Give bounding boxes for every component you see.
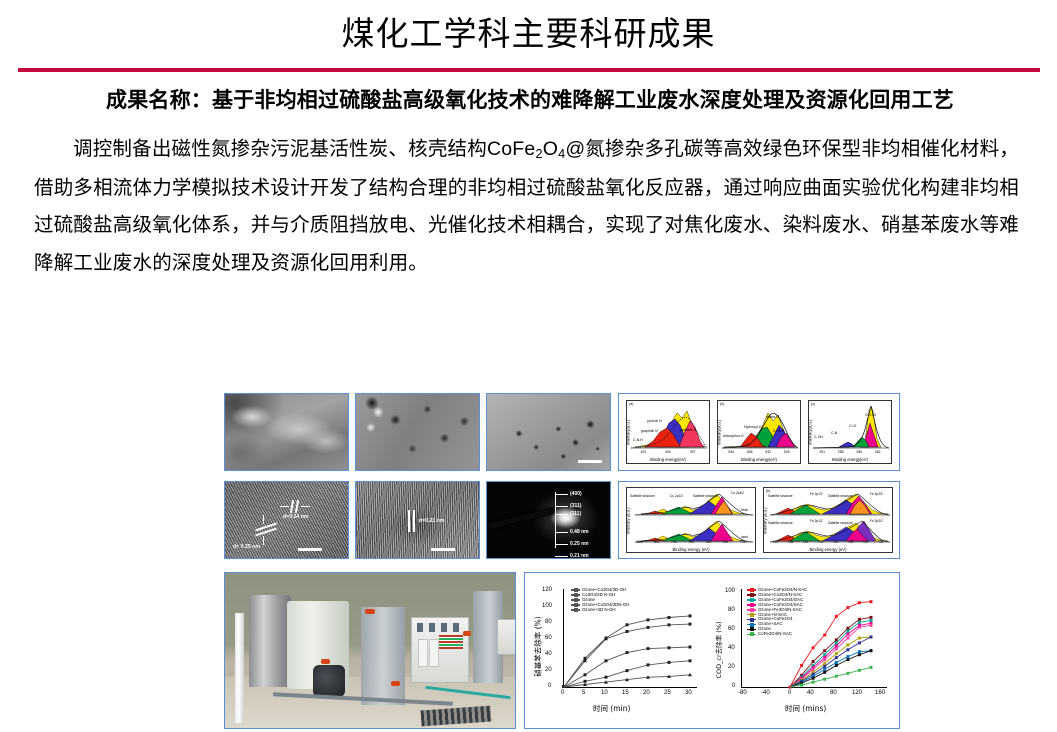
photo-dosing-column-b bbox=[429, 639, 439, 667]
saed-annotation-group: (400) (311) (111) 0.48 nm 0.25 nm 0.21 n… bbox=[555, 488, 607, 552]
formula-sub-2: 2 bbox=[535, 147, 542, 161]
figure-board: d=0.24 nm d= 0.25 nm d=0.21 nm (400) (31… bbox=[224, 393, 900, 731]
xps-xtick-b-3: 528 bbox=[784, 450, 790, 454]
photo-valve-red-a bbox=[365, 609, 375, 614]
xps-chart-co2p: Intensity (a.u.) bbox=[626, 487, 756, 553]
micrograph-label-d024: d=0.24 nm bbox=[283, 514, 309, 520]
micrograph-hrtem-lattice-1: d=0.24 nm d= 0.25 nm bbox=[224, 481, 349, 559]
formula-cofe: CoFe bbox=[487, 138, 535, 160]
photo-pipe-vertical bbox=[235, 613, 244, 723]
xps-xtick-fe-2: 730 bbox=[803, 540, 809, 544]
scale-bar bbox=[298, 548, 322, 551]
micrograph-saed-pattern: (400) (311) (111) 0.48 nm 0.25 nm 0.21 n… bbox=[486, 481, 611, 559]
xps-peak-label-hydroxyl-o: Hydroxyl-O bbox=[744, 425, 762, 429]
xps-peak-label-fe2p12: Fe 2p1/2 bbox=[810, 492, 823, 496]
xps-chart-fe2p: (b) Intensity (a.u.) bbox=[763, 487, 893, 553]
xps-xticks-c: 291 288 285 282 bbox=[813, 450, 887, 455]
xps-xtick-co-3: 790 bbox=[688, 540, 694, 544]
photo-valve-red-d bbox=[463, 631, 471, 636]
saed-tick-5 bbox=[555, 556, 568, 557]
xps-peak-label-fe2p12-b: Fe 2p1/2 bbox=[810, 519, 823, 523]
xps-xtick-c-2: 285 bbox=[856, 450, 862, 454]
arrow-line-d bbox=[263, 536, 264, 545]
xps-xtick-fe-4: 720 bbox=[833, 540, 839, 544]
xps-peak-label-c-dblo: C=O bbox=[849, 424, 856, 428]
arrow-line-c bbox=[263, 515, 264, 524]
xps-xtick-co-2: 795 bbox=[671, 540, 677, 544]
photo-dosing-column-a bbox=[418, 639, 428, 667]
abstract-part-1: 调控制备出磁性氮掺杂污泥基活性炭、核壳结构 bbox=[73, 137, 487, 160]
legend-swatch bbox=[747, 594, 756, 596]
legend-swatch bbox=[747, 609, 756, 611]
xps-xtick-fe-6: 710 bbox=[863, 540, 869, 544]
saed-label-111: (111) bbox=[570, 511, 581, 517]
micrograph-label-d025: d= 0.25 nm bbox=[233, 544, 260, 550]
xps-xtick-co-1: 800 bbox=[654, 540, 660, 544]
xps-peak-label-pyrrolic-n: pyrrolic N bbox=[647, 419, 662, 423]
chart-nitrobenzene-removal: 硝基苯去除率 (%) 时间 (min) 0 20 40 60 80 100 12… bbox=[531, 579, 707, 719]
xps-xtick-fe-3: 725 bbox=[818, 540, 824, 544]
lattice-fringe-mark-a bbox=[290, 500, 294, 513]
photo-valve-red-c bbox=[391, 681, 400, 686]
xps-xtick-c-3: 282 bbox=[875, 450, 881, 454]
saed-label-400: (400) bbox=[570, 491, 582, 497]
saed-label-048nm: 0.48 nm bbox=[570, 529, 589, 535]
legend-swatch bbox=[747, 619, 756, 621]
xps-peak-label-pyridinic-n: pyridinic N bbox=[680, 428, 696, 432]
pilot-plant-photo bbox=[224, 572, 516, 729]
saed-label-025nm: 0.25 nm bbox=[570, 541, 589, 547]
title-divider-rule bbox=[18, 68, 1040, 72]
xps-peak-label-fe-satellite-2: Satellite structure bbox=[828, 494, 853, 498]
xps-peak-label-c-o-m: C=O-M bbox=[773, 429, 784, 433]
photo-right-cabinet bbox=[497, 619, 516, 655]
micrograph-sem-particles bbox=[355, 393, 480, 471]
xps-peak-label-co2p32: Co 2p3/2 bbox=[731, 491, 744, 495]
photo-control-panel-text bbox=[439, 635, 463, 649]
formula-at: @ bbox=[565, 138, 585, 160]
saed-tick-3 bbox=[555, 532, 568, 533]
xps-peak-label-fe2p32: Fe 2p3/2 bbox=[870, 492, 883, 496]
legend-swatch bbox=[571, 589, 580, 591]
micrograph-hrtem-lattice-2: d=0.21 nm bbox=[355, 481, 480, 559]
xps-series-label-used: used bbox=[741, 535, 748, 539]
xps-board-bottom: Intensity (a.u.) bbox=[618, 481, 900, 559]
legend-swatch bbox=[747, 614, 756, 616]
chart-cod-legend: Ozone+CoFe2O4/N-SAC Ozone+Co3O4/N-SAC Oz… bbox=[747, 588, 807, 637]
xps-peak-label-fe-satellite-4: Satellite structure bbox=[828, 521, 853, 525]
xps-xtick-a-1: 400 bbox=[665, 450, 671, 454]
xps-xlabel-c: Binding energy(eV) bbox=[809, 457, 891, 462]
xps-xtick-b-1: 536 bbox=[747, 450, 753, 454]
legend-label-9: CoFe2O4/N-SAC bbox=[758, 632, 792, 636]
saed-tick-2 bbox=[555, 514, 568, 515]
xps-xticks-a: 403 400 397 bbox=[631, 450, 705, 455]
legend-swatch bbox=[571, 609, 580, 611]
saed-tick-4 bbox=[555, 544, 568, 545]
xps-peak-label-satellite-2: Satellite structure bbox=[693, 494, 718, 498]
slide-title: 煤化工学科主要科研成果 bbox=[0, 0, 1057, 54]
xps-peak-label-c-oh: C-OH bbox=[814, 435, 823, 439]
photo-tank-metal bbox=[249, 595, 291, 687]
xps-xticks-co2p: 805 800 795 790 785 780 775 bbox=[631, 540, 751, 545]
legend-swatch bbox=[571, 599, 580, 601]
xps-xtick-fe-0: 740 bbox=[773, 540, 779, 544]
legend-swatch bbox=[747, 634, 756, 636]
xps-xtick-co-0: 805 bbox=[637, 540, 643, 544]
micrograph-tem-nanoparticles bbox=[486, 393, 611, 471]
xps-xtick-b-0: 540 bbox=[728, 450, 734, 454]
xps-peak-label-fe-satellite-1: Satellite structure bbox=[768, 494, 793, 498]
beam-stop bbox=[486, 507, 555, 529]
xps-peak-label-satellite-1: Satellite structure bbox=[630, 494, 655, 498]
saed-tick-0 bbox=[555, 494, 568, 495]
xps-xlabel-co2p: Binding energy (eV) bbox=[627, 547, 755, 552]
legend-swatch bbox=[747, 629, 756, 631]
xps-xticks-b: 540 536 532 528 bbox=[722, 450, 796, 455]
xps-xtick-c-0: 291 bbox=[819, 450, 825, 454]
lattice-fringe-mark-e bbox=[408, 510, 410, 532]
xps-xticks-fe2p: 740 735 730 725 720 715 710 705 bbox=[768, 540, 888, 545]
xps-xtick-fe-5: 715 bbox=[848, 540, 854, 544]
legend-swatch bbox=[571, 604, 580, 606]
lattice-fringe-mark-f bbox=[413, 510, 415, 532]
xps-peak-label-adsorption-o: Adsorption-O bbox=[723, 434, 744, 438]
arrow-line-b bbox=[301, 506, 310, 507]
saed-tick-1 bbox=[555, 506, 568, 507]
xps-xtick-b-2: 532 bbox=[765, 450, 771, 454]
legend-swatch bbox=[747, 589, 756, 591]
chart-nitrobenzene-legend: Ozone+Co3O4/3D-GH Co3O4/3D N-GH Ozone Oz… bbox=[571, 588, 629, 613]
arrow-line-a bbox=[280, 506, 289, 507]
xps-xtick-a-2: 397 bbox=[690, 450, 696, 454]
xps-xlabel-fe2p: Binding energy (eV) bbox=[764, 547, 892, 552]
xps-peak-label-graphitic-n: graphitic N bbox=[641, 429, 658, 433]
xps-peak-label-c-n: C-N bbox=[831, 431, 837, 435]
saed-label-311: (311) bbox=[570, 503, 581, 509]
micrograph-label-d021: d=0.21 nm bbox=[419, 518, 445, 524]
xps-xlabel-b: Binding energy(eV) bbox=[718, 457, 800, 462]
photo-pump-unit bbox=[313, 665, 345, 697]
legend-swatch bbox=[747, 604, 756, 606]
xps-peak-label-fe2p32-b: Fe 2p3/2 bbox=[870, 519, 883, 523]
xps-peak-label-o-c-o: O-C=O bbox=[865, 413, 876, 417]
legend-swatch bbox=[747, 599, 756, 601]
scale-bar bbox=[578, 460, 602, 463]
xps-xtick-fe-1: 735 bbox=[788, 540, 794, 544]
legend-item: Co3O4/3D N-GH bbox=[571, 593, 629, 597]
xps-chart-n1s: (a) Intensity(a.u.) pyrrolic N graphitic… bbox=[626, 400, 710, 464]
photo-frame-rack bbox=[361, 607, 405, 705]
xps-peak-label-fe-satellite-3: Satellite structure bbox=[768, 521, 793, 525]
legend-label-4: Ozone+3D N-GH bbox=[582, 608, 616, 612]
xps-chart-o1s: (b) Intensity(a.u.) lattice-O Hydroxyl-O… bbox=[717, 400, 801, 464]
chart-cod-removal: COD_cr去除率 (%) 时间 (mins) 0 20 40 60 80 10… bbox=[713, 579, 895, 719]
legend-swatch bbox=[747, 624, 756, 626]
legend-swatch bbox=[571, 594, 580, 596]
abstract-paragraph: 调控制备出磁性氮掺杂污泥基活性炭、核壳结构CoFe2O4@氮掺杂多孔碳等高效绿色… bbox=[34, 130, 1019, 282]
saed-spine bbox=[555, 492, 556, 548]
xps-xtick-a-0: 403 bbox=[640, 450, 646, 454]
micrograph-sem-sludge-carbon bbox=[224, 393, 349, 471]
photo-control-panel-lights bbox=[417, 623, 459, 632]
chemical-formula: CoFe2O4@ bbox=[487, 138, 585, 160]
legend-item: CoFe2O4/N-SAC bbox=[747, 632, 807, 636]
xps-peak-label-co2p12: Co 2p1/2 bbox=[670, 494, 683, 498]
scale-bar bbox=[431, 548, 455, 551]
performance-charts-board: 硝基苯去除率 (%) 时间 (min) 0 20 40 60 80 100 12… bbox=[524, 572, 900, 729]
photo-valve-red-b bbox=[321, 659, 330, 664]
xps-xtick-co-6: 775 bbox=[740, 540, 746, 544]
legend-item: Ozone+3D N-GH bbox=[571, 608, 629, 612]
xps-board-top: (a) Intensity(a.u.) pyrrolic N graphitic… bbox=[618, 393, 900, 471]
result-name: 成果名称：基于非均相过硫酸盐高级氧化技术的难降解工业废水深度处理及资源化回用工艺 bbox=[58, 84, 1002, 117]
legend-item: Ozone+SAC bbox=[747, 622, 807, 626]
xps-xtick-fe-7: 705 bbox=[878, 540, 884, 544]
xps-xtick-co-5: 780 bbox=[722, 540, 728, 544]
xps-peak-label-lattice-o: lattice-O bbox=[766, 415, 779, 419]
xps-series-label-fresh: fresh bbox=[741, 508, 748, 512]
xps-xtick-co-4: 785 bbox=[705, 540, 711, 544]
saed-label-021nm: 0.21 nm bbox=[570, 553, 589, 559]
lattice-fringe-mark-b bbox=[295, 500, 299, 513]
xps-peak-label-cnh: C-N-H bbox=[633, 438, 643, 442]
xps-xlabel-a: Binding energy(eV) bbox=[627, 457, 709, 462]
xps-xtick-c-1: 288 bbox=[838, 450, 844, 454]
xps-chart-c1s: (c) Intensity(a.u.) O-C=O C=O C-N C-OH 2… bbox=[808, 400, 892, 464]
formula-o: O bbox=[543, 138, 558, 160]
